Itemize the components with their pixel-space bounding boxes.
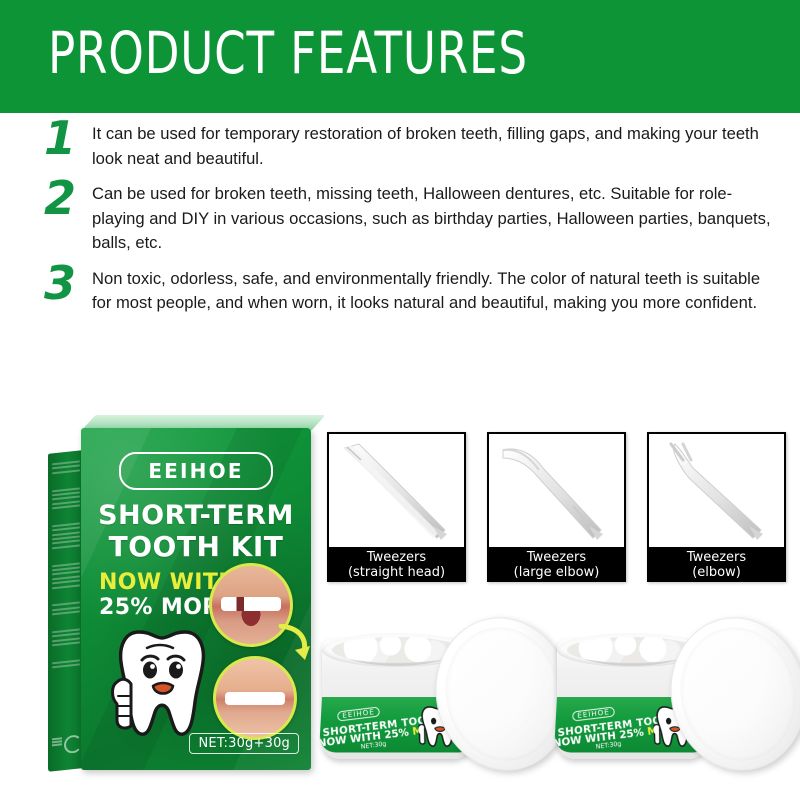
tweezer-name-large-elbow: Tweezers	[527, 550, 586, 565]
box-net-weight-badge: NET:30g+30g	[189, 733, 299, 754]
transformation-arrow-icon	[277, 624, 311, 664]
tweezers-straight-icon	[329, 434, 464, 547]
product-showcase: EEIHOE SHORT-TERM TOOTH KIT NOW WITH 25%…	[0, 420, 800, 800]
tweezer-panel-large-elbow[interactable]: Tweezers (large elbow)	[487, 432, 626, 582]
page-header: PRODUCT FEATURES	[0, 0, 800, 113]
product-jar-1: EEIHOE SHORT-TERM TOOTH KIT NOW WITH 25%…	[318, 605, 568, 785]
feature-text-2: Can be used for broken teeth, missing te…	[92, 180, 782, 256]
box-front-face: EEIHOE SHORT-TERM TOOTH KIT NOW WITH 25%…	[81, 428, 311, 770]
tweezer-name-elbow: Tweezers	[687, 550, 746, 565]
box-brand-badge: EEIHOE	[119, 452, 273, 490]
tweezers-elbow-icon	[649, 434, 784, 547]
tweezer-caption-elbow: Tweezers (elbow)	[647, 547, 786, 582]
mouth-after-photo	[213, 656, 297, 740]
box-certification-icons	[52, 732, 80, 757]
product-jar-2: EEIHOE SHORT-TERM TOOTH KIT NOW WITH 25%…	[553, 605, 800, 785]
product-features-infographic: PRODUCT FEATURES 1 It can be used for te…	[0, 0, 800, 800]
tweezer-panel-group: Tweezers (straight head)	[327, 432, 787, 592]
feature-number-3: 3	[44, 261, 92, 305]
box-side-panel	[48, 450, 84, 772]
jar-2-brand: EEIHOE	[572, 706, 615, 721]
feature-item-1: 1 It can be used for temporary restorati…	[0, 120, 800, 171]
jar-group: EEIHOE SHORT-TERM TOOTH KIT NOW WITH 25%…	[318, 605, 796, 785]
page-title: PRODUCT FEATURES	[48, 20, 528, 86]
tweezer-variant-elbow: (elbow)	[647, 565, 786, 580]
tweezer-panel-straight[interactable]: Tweezers (straight head)	[327, 432, 466, 582]
tweezers-large-elbow-icon	[489, 434, 624, 547]
box-brand-text: EEIHOE	[148, 459, 243, 483]
tweezer-panel-elbow[interactable]: Tweezers (elbow)	[647, 432, 786, 582]
tweezer-variant-large-elbow: (large elbow)	[487, 565, 626, 580]
tweezer-caption-straight: Tweezers (straight head)	[327, 547, 466, 582]
jar-1-brand: EEIHOE	[337, 706, 380, 721]
box-title-line1: SHORT-TERM	[81, 500, 311, 531]
tweezer-caption-large-elbow: Tweezers (large elbow)	[487, 547, 626, 582]
feature-number-1: 1	[44, 116, 92, 160]
tooth-mascot-icon	[109, 624, 221, 750]
recycle-icon	[64, 734, 82, 754]
tweezer-name-straight: Tweezers	[367, 550, 426, 565]
feature-number-2: 2	[44, 176, 92, 220]
feature-item-3: 3 Non toxic, odorless, safe, and environ…	[0, 265, 800, 316]
jar-1-net-weight: NET:30g	[360, 740, 386, 751]
tweezer-variant-straight: (straight head)	[327, 565, 466, 580]
feature-item-2: 2 Can be used for broken teeth, missing …	[0, 180, 800, 256]
box-title-line2: TOOTH KIT	[81, 530, 311, 563]
feature-text-1: It can be used for temporary restoration…	[92, 120, 782, 171]
feature-text-3: Non toxic, odorless, safe, and environme…	[92, 265, 782, 316]
box-side-fineprint	[52, 460, 80, 671]
product-box: EEIHOE SHORT-TERM TOOTH KIT NOW WITH 25%…	[48, 428, 318, 780]
jar-2-net-weight: NET:30g	[595, 740, 621, 751]
feature-list: 1 It can be used for temporary restorati…	[0, 120, 800, 325]
